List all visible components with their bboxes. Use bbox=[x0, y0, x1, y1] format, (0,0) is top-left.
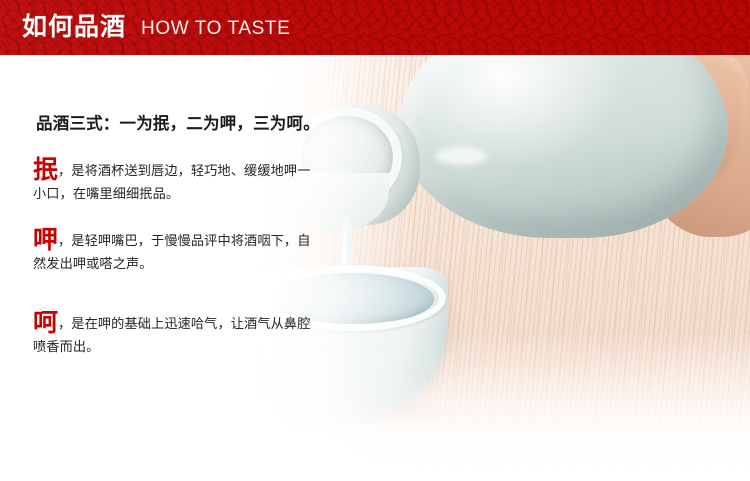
tasting-step-2: 呷，是轻呷嘴巴，于慢慢品评中将酒咽下，自然发出呷或嗒之声。 bbox=[33, 228, 313, 274]
banner-title-cn: 如何品酒 bbox=[22, 15, 126, 40]
tasting-step-3-paragraph: 呵，是在呷的基础上迅速哈气，让酒气从鼻腔喷香而出。 bbox=[33, 311, 313, 357]
tasting-step-2-paragraph: 呷，是轻呷嘴巴，于慢慢品评中将酒咽下，自然发出呷或嗒之声。 bbox=[33, 228, 313, 274]
tasting-step-2-keyword: 呷 bbox=[33, 226, 58, 254]
tasting-step-1-keyword: 抿 bbox=[33, 156, 58, 184]
bottle-highlight bbox=[435, 147, 487, 165]
tasting-step-1-text: ，是将酒杯送到唇边，轻巧地、缓缓地呷一小口，在嘴里细细抿品。 bbox=[33, 163, 310, 201]
banner-title-en: HOW TO TASTE bbox=[141, 19, 290, 38]
header-banner: 如何品酒 HOW TO TASTE bbox=[0, 0, 750, 55]
banner-titles: 如何品酒 HOW TO TASTE bbox=[22, 0, 290, 55]
tasting-step-2-text: ，是轻呷嘴巴，于慢慢品评中将酒咽下，自然发出呷或嗒之声。 bbox=[33, 233, 310, 271]
tasting-step-3-keyword: 呵 bbox=[33, 309, 58, 337]
tasting-step-1: 抿，是将酒杯送到唇边，轻巧地、缓缓地呷一小口，在嘴里细细抿品。 bbox=[33, 158, 313, 204]
tasting-step-3-text: ，是在呷的基础上迅速哈气，让酒气从鼻腔喷香而出。 bbox=[33, 316, 310, 354]
tasting-step-3: 呵，是在呷的基础上迅速哈气，让酒气从鼻腔喷香而出。 bbox=[33, 311, 313, 357]
tasting-step-1-paragraph: 抿，是将酒杯送到唇边，轻巧地、缓缓地呷一小口，在嘴里细细抿品。 bbox=[33, 158, 313, 204]
page-root: 如何品酒 HOW TO TASTE 品酒三式：一为抿，二为呷，三为呵。 抿，是将… bbox=[0, 0, 750, 481]
lead-sentence: 品酒三式：一为抿，二为呷，三为呵。 bbox=[36, 110, 320, 134]
